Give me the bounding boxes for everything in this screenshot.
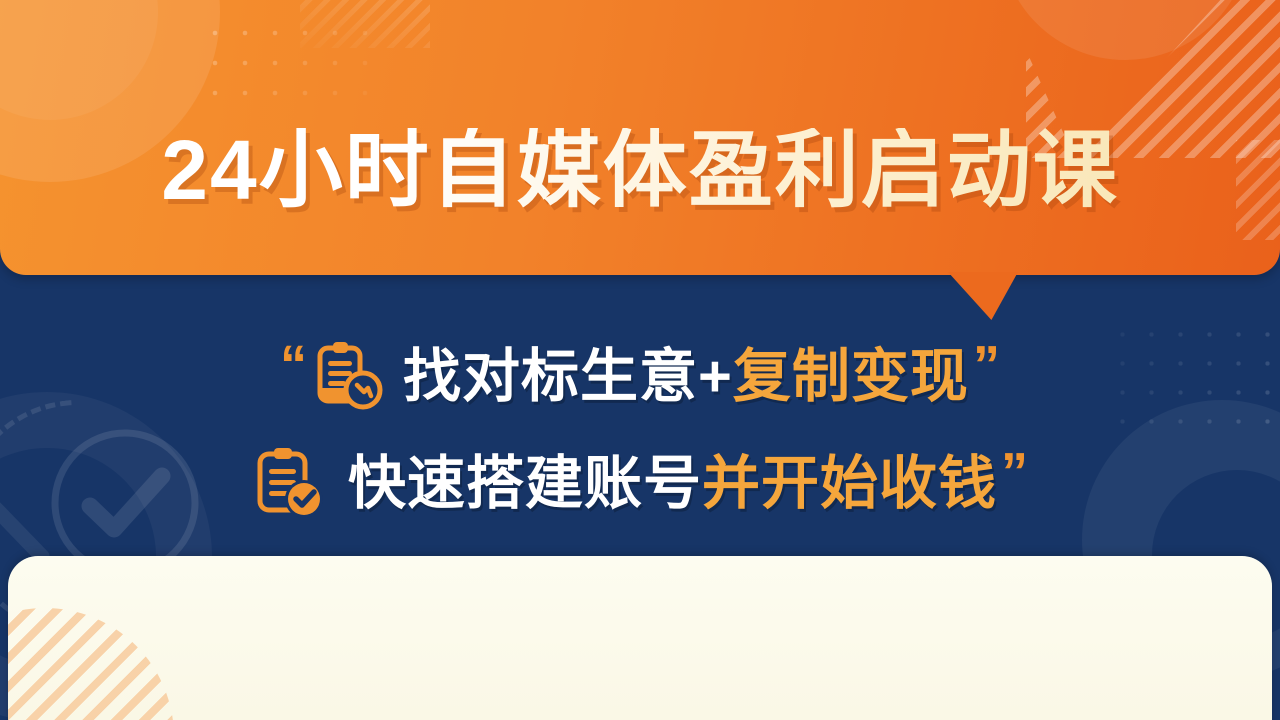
banner-stripes-left-decoration (300, 0, 430, 48)
subtitle-1-gold-text: 复制变现 (733, 348, 969, 406)
poster-stage: 24小时自媒体盈利启动课 “ 找对标生意+ 复制变现 ” 快速 (0, 0, 1280, 720)
page-title: 24小时自媒体盈利启动课 (0, 128, 1280, 212)
close-quote-mark: ” (973, 338, 1000, 392)
subtitle-2-white-text: 快速搭建账号 (348, 455, 702, 513)
subtitle-1-white-text: 找对标生意+ (403, 348, 733, 406)
clipboard-search-icon (311, 340, 385, 414)
clipboard-check-icon (252, 445, 330, 523)
speech-bubble-tail (948, 272, 1018, 320)
subtitle-2-gold-text: 并开始收钱 (702, 455, 997, 513)
subtitle-row-2: 快速搭建账号 并开始收钱 ” (0, 438, 1280, 530)
subtitle-row-1: “ 找对标生意+ 复制变现 ” (0, 334, 1280, 420)
card-striped-circle-decoration (8, 608, 174, 720)
open-quote-mark: “ (280, 338, 307, 392)
bottom-content-card (8, 556, 1272, 720)
close-quote-mark-2: ” (1001, 445, 1028, 499)
